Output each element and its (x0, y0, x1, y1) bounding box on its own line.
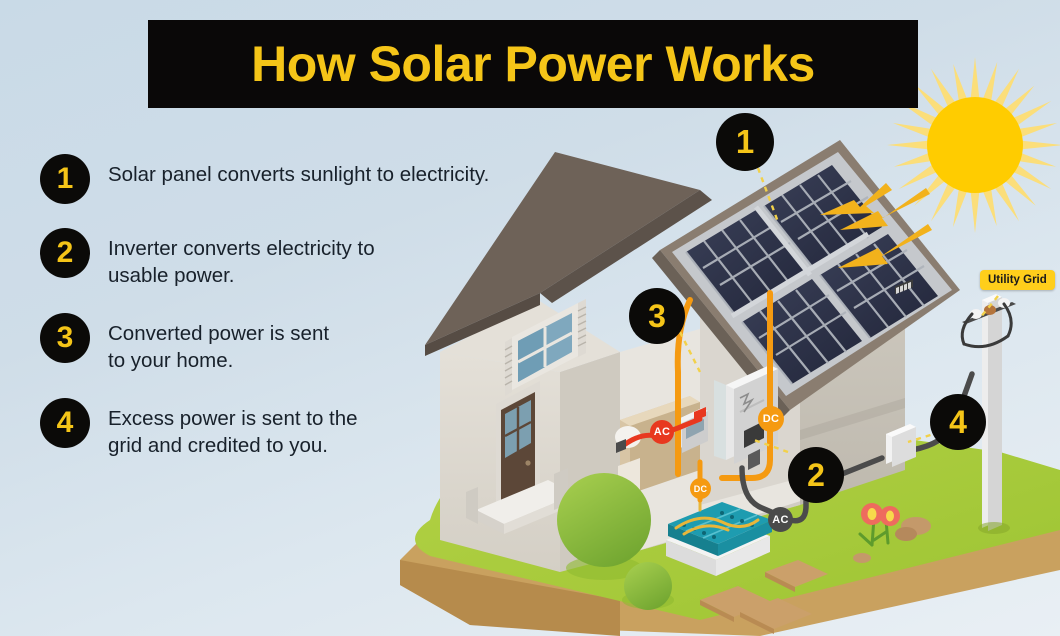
cable-tag-dc-battery: DC (690, 478, 711, 499)
cable-tag-dc-roof: DC (758, 406, 784, 432)
list-item: 4 Excess power is sent to thegrid and cr… (40, 404, 560, 459)
step-text: Converted power is sentto your home. (108, 319, 329, 374)
title-bar: How Solar Power Works (148, 20, 918, 108)
steps-list: 1 Solar panel converts sunlight to elect… (40, 160, 560, 489)
infographic-canvas: How Solar Power Works 1 Solar panel conv… (0, 0, 1060, 636)
list-item: 2 Inverter converts electricity tousable… (40, 234, 560, 289)
cable-tag-ac-grid: AC (768, 507, 793, 532)
step-number-badge: 2 (40, 228, 90, 278)
page-title: How Solar Power Works (251, 35, 815, 93)
utility-grid-label: Utility Grid (980, 270, 1055, 290)
callout-badge-2: 2 (788, 447, 844, 503)
callout-badge-3: 3 (629, 288, 685, 344)
cable-tag-ac-appliance: AC (650, 420, 674, 444)
step-text: Excess power is sent to thegrid and cred… (108, 404, 358, 459)
list-item: 3 Converted power is sentto your home. (40, 319, 560, 374)
step-number-badge: 3 (40, 313, 90, 363)
step-text: Solar panel converts sunlight to electri… (108, 160, 489, 188)
list-item: 1 Solar panel converts sunlight to elect… (40, 160, 560, 204)
step-text: Inverter converts electricity tousable p… (108, 234, 375, 289)
step-number-badge: 4 (40, 398, 90, 448)
step-number-badge: 1 (40, 154, 90, 204)
callout-badge-4: 4 (930, 394, 986, 450)
callout-badge-1: 1 (716, 113, 774, 171)
